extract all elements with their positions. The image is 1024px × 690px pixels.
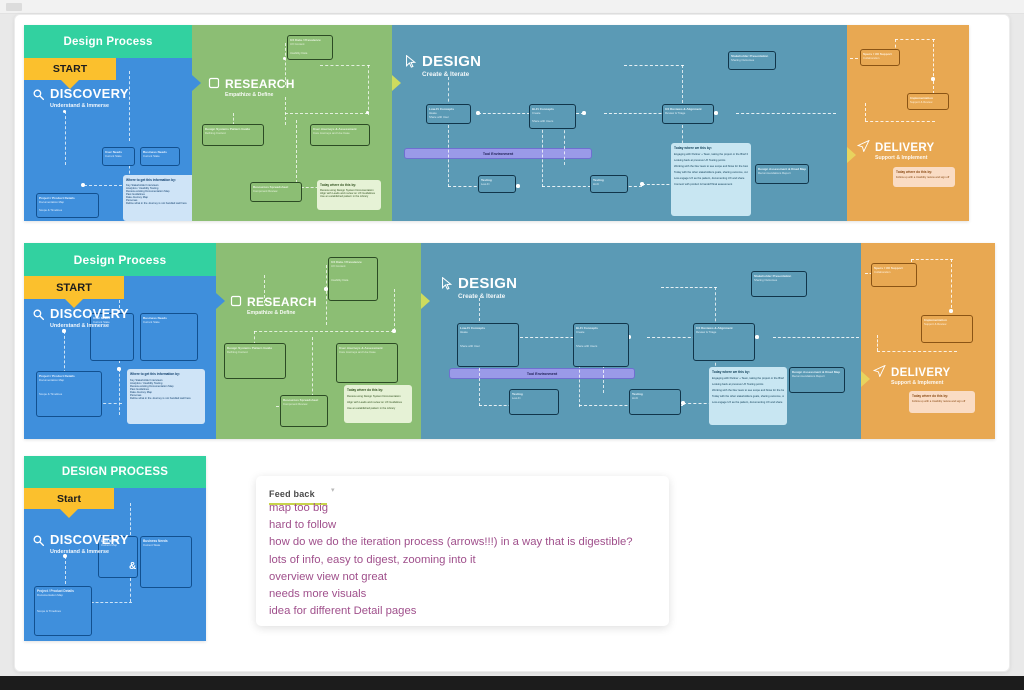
- node-line: Support & Review: [924, 322, 970, 326]
- connector-node: [366, 111, 369, 114]
- node-stakeholder-presentation[interactable]: Stakeholder Presentation Sharing Outcome…: [728, 51, 776, 70]
- note-line: Low engage UX as the pattern, documentin…: [674, 177, 748, 180]
- list-item[interactable]: overview view not great: [269, 569, 661, 586]
- stage-connector-chevron: [192, 75, 201, 91]
- node-line: Current State: [143, 543, 189, 547]
- note-title: Today where we this by:: [674, 146, 748, 150]
- connector-node: [392, 329, 396, 333]
- node-line: Core Journeys and Use Case: [313, 131, 367, 135]
- connector: [296, 120, 297, 188]
- stage-connector-chevron: [392, 75, 401, 91]
- note-line: Align with Leads and review on UX Guidel…: [347, 401, 409, 404]
- note-line: Review using Design System Documentation: [347, 395, 409, 398]
- note-line: Use an established pattern in the Librar…: [347, 407, 409, 410]
- node-line: Review & Triage: [665, 111, 711, 115]
- magnifier-icon: [32, 308, 45, 321]
- stage-design[interactable]: DESIGN Create & Iterate Tool Environment: [421, 243, 861, 439]
- note-title: Today where do this by:: [347, 388, 409, 392]
- list-item[interactable]: idea for different Detail pages: [269, 603, 661, 620]
- board-detail-discovery[interactable]: DESIGN PROCESS Start DISCOVERY Under: [24, 456, 206, 641]
- node-line: UX Content: [290, 42, 330, 46]
- start-button[interactable]: START: [24, 276, 124, 299]
- node-line: Core Journeys and Use Case: [339, 350, 395, 354]
- connector-node: [283, 57, 286, 60]
- stage-discovery[interactable]: Design Process START DISCOVERY Understan…: [24, 25, 192, 221]
- board-overview-v1[interactable]: Design Process START DISCOVERY Understan…: [24, 25, 969, 221]
- note-title: Today where we this by:: [712, 370, 784, 374]
- bottom-bar: [0, 676, 1024, 690]
- stage-connector-chevron: [421, 293, 430, 309]
- stage-title: DISCOVERY: [50, 532, 129, 547]
- note-where-to-get-info[interactable]: Where to get this information by: Key St…: [123, 175, 192, 221]
- connector: [865, 121, 935, 122]
- note-line: Working with the Dev team to see scope a…: [674, 165, 748, 168]
- feedback-list: map too big hard to follow how do we do …: [269, 500, 661, 620]
- node-line: Recommendations Report: [792, 374, 842, 378]
- stage-heading-delivery: DELIVERY Support & Implement: [873, 363, 950, 387]
- note-today-where-we-this-by-design[interactable]: Today where we this by: Engaging with Pa…: [671, 143, 751, 216]
- band-tool-environment[interactable]: Tool Environment: [449, 368, 635, 379]
- magnifier-icon: [32, 88, 45, 101]
- stage-design[interactable]: DESIGN Create & Iterate Tool Environment: [392, 25, 847, 221]
- stage-connector-chevron: [847, 147, 856, 163]
- note-today-where-do-this-by-research[interactable]: Today where do this by: Review using Des…: [344, 385, 412, 423]
- note-line: Follow up with a Usability review and si…: [896, 176, 952, 179]
- stage-title: RESEARCH: [225, 77, 295, 91]
- node-user-journeys[interactable]: User Journeys & Assessment Core Journeys…: [336, 343, 398, 383]
- process-title-banner: Design Process: [24, 243, 216, 276]
- stage-subtitle: Create & Iterate: [458, 293, 517, 300]
- start-label: START: [53, 63, 87, 75]
- stage-delivery[interactable]: DELIVERY Support & Implement Specs / UX …: [847, 25, 969, 221]
- list-item[interactable]: hard to follow: [269, 517, 661, 534]
- chevron-down-icon[interactable]: ▾: [331, 486, 335, 494]
- node-line: Review & Triage: [696, 330, 752, 334]
- node-project-product-details[interactable]: Project / Product Details Documentation …: [36, 193, 99, 218]
- node-line: Create: [532, 111, 573, 115]
- node-line: Current State: [105, 154, 132, 158]
- page-root: Design Process START DISCOVERY Understan…: [0, 0, 1024, 690]
- node-line: Sharing Outcomes: [731, 58, 773, 62]
- note-title: Today where do this by:: [912, 394, 972, 398]
- node-specs-ux-support[interactable]: Specs / UX Support Collaboration: [871, 263, 917, 287]
- connector-node: [681, 401, 685, 405]
- node-testing-hi-fi[interactable]: Testing Hi-Fi: [629, 389, 681, 415]
- stage-discovery[interactable]: DESIGN PROCESS Start DISCOVERY Under: [24, 456, 206, 641]
- node-business-needs[interactable]: Business Needs Current State: [140, 313, 198, 361]
- node-line: Collaboration: [863, 56, 897, 60]
- stage-title: DISCOVERY: [50, 306, 129, 321]
- connector: [951, 259, 952, 313]
- stage-subtitle: Understand & Immerse: [50, 103, 129, 109]
- note-line: Define what in the Journey is not handle…: [130, 397, 202, 400]
- connector: [254, 331, 394, 332]
- connector: [624, 65, 684, 66]
- stage-heading-discovery: DISCOVERY Understand & Immerse: [32, 305, 129, 329]
- note-line: Looking back at previous UX Testing poin…: [674, 159, 748, 162]
- node-line: Current State: [143, 320, 195, 324]
- node-business-needs[interactable]: Business Needs Current State: [140, 147, 180, 166]
- connector-node: [714, 111, 718, 115]
- node-line: Defining Context: [227, 350, 283, 354]
- node-implementation[interactable]: Implementation Support & Review: [907, 93, 949, 110]
- stage-subtitle: Empathize & Define: [225, 93, 295, 99]
- stage-delivery[interactable]: DELIVERY Support & Implement Specs / UX …: [861, 243, 995, 439]
- browser-top-strip: [0, 0, 1024, 14]
- note-line: Follow up with a Usability review and si…: [912, 400, 972, 403]
- connector: [865, 103, 866, 121]
- connector: [130, 503, 131, 535]
- node-line: Component Review: [283, 402, 325, 406]
- list-item[interactable]: lots of info, easy to digest, zooming in…: [269, 552, 661, 569]
- magnifier-icon: [32, 534, 45, 547]
- note-line: Today with the other stakeholders goals,…: [674, 171, 748, 174]
- node-ux-reviews-alignment[interactable]: UX Reviews & Alignment Review & Triage: [662, 104, 714, 124]
- connector-node: [931, 77, 935, 81]
- stage-heading-research: RESEARCH Empathize & Define: [230, 293, 317, 317]
- node-specs-ux-support[interactable]: Specs / UX Support Collaboration: [860, 49, 900, 66]
- connector: [911, 259, 953, 260]
- connector: [773, 337, 859, 338]
- node-ux-data[interactable]: UX Data / Prevalence UX Content Usabilit…: [287, 35, 333, 60]
- node-line: Documentation Map: [39, 200, 96, 204]
- note-line: Looking back at previous UX Testing poin…: [712, 383, 784, 386]
- node-low-fi-concepts[interactable]: Low-Fi Concepts Ideate Share with User: [426, 104, 471, 124]
- connector-node: [640, 182, 644, 186]
- note-today-where-do-this-by-delivery[interactable]: Today where do this by: Follow up with a…: [909, 391, 975, 413]
- node-line: Share with Users: [576, 344, 626, 348]
- stage-title: DELIVERY: [875, 142, 934, 154]
- stage-title: RESEARCH: [247, 295, 317, 309]
- process-title-text: Design Process: [74, 253, 167, 267]
- connector: [448, 77, 449, 107]
- connector-node: [62, 329, 66, 333]
- feedback-card[interactable]: Feed back ▾ map too big hard to follow h…: [256, 476, 669, 626]
- connector: [65, 111, 66, 165]
- note-title: Where to get this information by:: [130, 372, 202, 376]
- node-line: Low-Fi: [512, 396, 556, 400]
- note-line: Connect with product & handoff final ass…: [674, 183, 748, 186]
- note-today-where-do-this-by-research[interactable]: Today where do this by: Review using Des…: [317, 180, 381, 210]
- connector-node: [476, 111, 480, 115]
- connector: [285, 97, 286, 125]
- connector-node: [949, 309, 953, 313]
- note-line: Today with the other stakeholders goals,…: [712, 395, 784, 398]
- connector: [895, 39, 935, 40]
- checkbox-icon: [230, 295, 242, 307]
- cursor-icon: [405, 55, 417, 69]
- stage-subtitle: Understand & Immerse: [50, 323, 129, 329]
- node-hi-fi-concepts[interactable]: Hi-Fi Concepts Create Share with Users: [573, 323, 629, 367]
- stage-heading-discovery: DISCOVERY Understand & Immerse: [32, 85, 129, 109]
- connector: [877, 335, 878, 351]
- note-line: Use an established pattern in the Librar…: [320, 195, 378, 198]
- stage-heading-design: DESIGN Create & Iterate: [441, 275, 517, 300]
- band-label: Tool Environment: [483, 152, 513, 156]
- note-line: Low engage UX as the pattern, documentin…: [712, 401, 784, 404]
- stage-title: DELIVERY: [891, 367, 950, 379]
- node-testing-low-fi[interactable]: Testing Low-Fi: [509, 389, 559, 415]
- list-item[interactable]: how do we do the iteration process (arro…: [269, 534, 661, 551]
- node-line: Collaboration: [874, 270, 914, 274]
- node-line: Support & Review: [910, 100, 946, 104]
- content-card: Design Process START DISCOVERY Understan…: [14, 14, 1010, 672]
- connector: [129, 71, 130, 141]
- start-label: START: [56, 282, 92, 294]
- node-user-journeys[interactable]: User Journeys & Assessment Core Journeys…: [310, 124, 370, 146]
- connector: [320, 65, 370, 66]
- node-line: Component Review: [253, 189, 299, 193]
- list-item[interactable]: needs more visuals: [269, 586, 661, 603]
- note-today-where-do-this-by-delivery[interactable]: Today where do this by: Follow up with a…: [893, 167, 955, 187]
- node-user-needs[interactable]: User Needs Current State: [102, 147, 135, 166]
- stage-connector-chevron: [205, 498, 206, 514]
- connector: [326, 265, 327, 325]
- node-line: Defining Context: [205, 131, 261, 135]
- node-design-systems-guide[interactable]: Design Systems Pattern Guide Defining Co…: [202, 124, 264, 146]
- connector: [285, 113, 368, 114]
- connector: [877, 351, 957, 352]
- node-hi-fi-concepts[interactable]: Hi-Fi Concepts Create Share with Users: [529, 104, 576, 129]
- node-ux-reviews-alignment[interactable]: UX Reviews & Alignment Review & Triage: [693, 323, 755, 361]
- node-line: Sharing Outcomes: [754, 278, 804, 282]
- node-resources-spreadsheet[interactable]: Resources Spreadsheet Component Review: [250, 182, 302, 202]
- node-line: Share with User: [429, 115, 468, 119]
- note-line: Engaging with Partner + Team, taking the…: [674, 153, 748, 156]
- stage-subtitle: Support & Implement: [891, 381, 950, 387]
- connector-node: [516, 184, 520, 188]
- note-line: Working with the Dev team to see scope a…: [712, 389, 784, 392]
- note-line: Define what in the Journey is not handle…: [126, 202, 192, 205]
- node-line: Ideate: [460, 330, 516, 334]
- stage-subtitle: Support & Implement: [875, 156, 934, 162]
- band-label: Tool Environment: [527, 372, 557, 376]
- node-line: Scope & Timelines: [39, 392, 99, 396]
- note-title: Today where do this by:: [896, 170, 952, 174]
- connector: [119, 369, 120, 415]
- connector: [933, 39, 934, 81]
- connector: [661, 287, 717, 288]
- stage-connector-chevron: [216, 293, 225, 309]
- connector: [479, 298, 480, 326]
- node-line: UX Content: [331, 264, 375, 268]
- connector: [394, 289, 395, 331]
- node-line: Scope & Timelines: [39, 208, 96, 212]
- connector-node: [63, 110, 66, 113]
- process-title-text: DESIGN PROCESS: [62, 466, 168, 478]
- note-title: Today where do this by:: [320, 183, 378, 187]
- stage-heading-research: RESEARCH Empathize & Define: [208, 75, 295, 99]
- node-line: Scope & Timelines: [37, 609, 89, 613]
- start-button[interactable]: START: [24, 58, 116, 80]
- stage-title: DESIGN: [422, 53, 481, 70]
- stage-heading-design: DESIGN Create & Iterate: [405, 53, 481, 78]
- node-testing-hi-fi[interactable]: Testing Hi-Fi: [590, 175, 628, 193]
- node-line: Share with User: [460, 344, 516, 348]
- connector: [542, 125, 543, 187]
- connector-node: [582, 111, 586, 115]
- node-line: Share with Users: [532, 119, 573, 123]
- process-title-banner: DESIGN PROCESS: [24, 456, 206, 488]
- node-line: Low-Fi: [481, 182, 513, 186]
- ampersand-symbol: &: [129, 561, 136, 572]
- process-title-text: Design Process: [63, 36, 152, 48]
- node-resources-spreadsheet[interactable]: Resources Spreadsheet Component Review: [280, 395, 328, 427]
- node-line: Documentation Map: [39, 378, 99, 382]
- note-line: Engaging with Partner + Team, taking the…: [712, 377, 784, 380]
- node-line: Hi-Fi: [593, 182, 625, 186]
- note-where-to-get-info[interactable]: Where to get this information by: Key St…: [127, 369, 205, 424]
- paper-plane-icon: [873, 365, 886, 377]
- stage-research[interactable]: RESEARCH Empathize & Define UX Data / Pr…: [192, 25, 392, 221]
- start-button[interactable]: Start: [24, 488, 114, 509]
- node-line: Current State: [143, 154, 177, 158]
- start-label: Start: [57, 493, 81, 505]
- node-ux-data[interactable]: UX Data / Prevalence UX Content Usabilit…: [328, 257, 378, 301]
- checkbox-icon: [208, 77, 220, 89]
- connector: [86, 602, 132, 603]
- node-implementation[interactable]: Implementation Support & Review: [921, 315, 973, 343]
- node-testing-low-fi[interactable]: Testing Low-Fi: [478, 175, 516, 193]
- connector: [736, 113, 836, 114]
- stage-discovery[interactable]: Design Process START DISCOVERY Understan…: [24, 243, 216, 439]
- note-today-where-we-this-by-design[interactable]: Today where we this by: Engaging with Pa…: [709, 367, 787, 425]
- node-stakeholder-presentation[interactable]: Stakeholder Presentation Sharing Outcome…: [751, 271, 807, 297]
- connector: [130, 578, 131, 602]
- window-chip: [6, 3, 22, 11]
- stage-subtitle: Understand & Immerse: [50, 549, 129, 555]
- node-line: Recommendations Report: [758, 171, 806, 175]
- node-design-assessment-roadmap[interactable]: Design Assessment & Road Map Recommendat…: [755, 164, 809, 184]
- node-line: Usability Data: [331, 278, 375, 282]
- node-design-assessment-roadmap[interactable]: Design Assessment & Road Map Recommendat…: [789, 367, 845, 393]
- node-line: Hi-Fi: [632, 396, 678, 400]
- process-title-banner: Design Process: [24, 25, 192, 58]
- node-line: Documentation Map: [37, 593, 89, 597]
- node-line: Usability Data: [290, 51, 330, 55]
- stage-subtitle: Create & Iterate: [422, 71, 481, 78]
- node-design-systems-guide[interactable]: Design Systems Pattern Guide Defining Co…: [224, 343, 286, 379]
- board-overview-v2[interactable]: Design Process START DISCOVERY Understan…: [24, 243, 995, 439]
- connector-node: [117, 367, 121, 371]
- stage-title: DESIGN: [458, 275, 517, 292]
- node-business-needs[interactable]: Business Needs Current State: [140, 536, 192, 588]
- cursor-icon: [441, 277, 453, 291]
- node-project-product-details[interactable]: Project / Product Details Documentation …: [36, 371, 102, 417]
- node-low-fi-concepts[interactable]: Low-Fi Concepts Ideate Share with User: [457, 323, 519, 367]
- paper-plane-icon: [857, 140, 870, 152]
- stage-research[interactable]: RESEARCH Empathize & Define UX Data / Pr…: [216, 243, 421, 439]
- stage-connector-chevron: [861, 371, 870, 387]
- connector: [368, 65, 369, 115]
- stage-subtitle: Empathize & Define: [247, 311, 317, 317]
- stage-heading-delivery: DELIVERY Support & Implement: [857, 138, 934, 162]
- list-item[interactable]: map too big: [269, 500, 661, 517]
- node-project-product-details[interactable]: Project / Product Details Documentation …: [34, 586, 92, 636]
- note-title: Where to get this information by:: [126, 178, 192, 182]
- connector: [564, 125, 565, 165]
- connector: [448, 125, 449, 187]
- connector-node: [324, 287, 328, 291]
- stage-heading-discovery: DISCOVERY Understand & Immerse: [32, 531, 129, 555]
- connector-node: [81, 183, 85, 187]
- connector-node: [755, 335, 759, 339]
- node-line: Create: [576, 330, 626, 334]
